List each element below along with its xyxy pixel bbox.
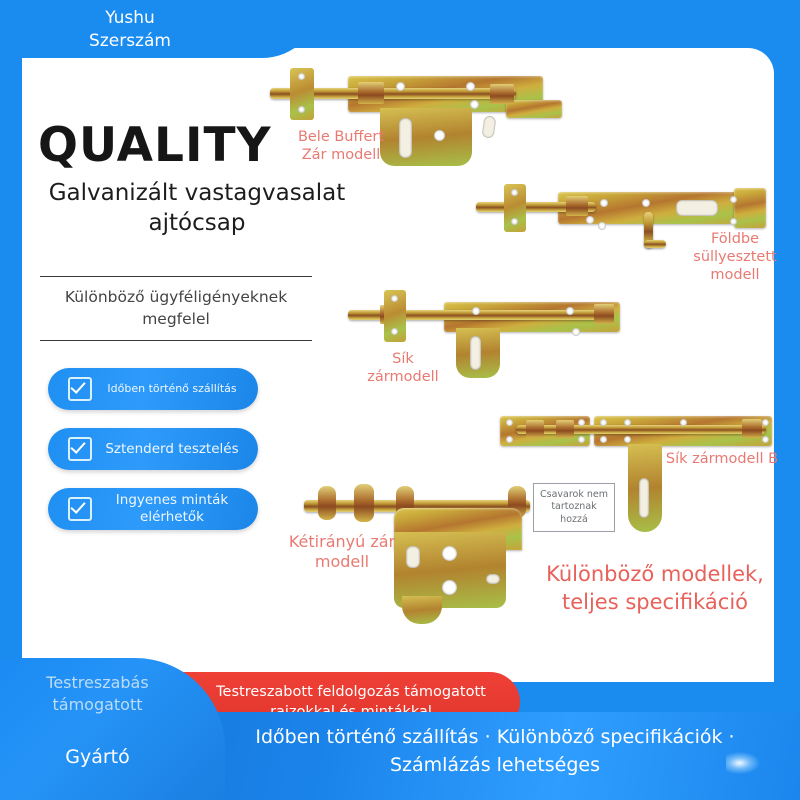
bolt-collar — [526, 420, 544, 438]
brand-name: Yushu Szerszám — [0, 7, 260, 53]
brand-tab: Yushu Szerszám — [0, 0, 320, 58]
brand-line-2: Szerszám — [0, 30, 260, 53]
padlock-slot — [482, 115, 497, 138]
product-label-sik-zarmodell: Sík zármodell — [360, 350, 446, 386]
feature-pill-samples[interactable]: Ingyenes minták elérhetők — [48, 488, 258, 530]
screw-hole — [466, 82, 475, 91]
screw-hole — [442, 580, 457, 595]
screw-hole — [506, 419, 513, 426]
screw-hole — [600, 436, 607, 443]
screw-hole — [600, 199, 608, 207]
check-box-icon — [68, 437, 92, 461]
feature-pill-label: Időben történő szállítás — [92, 382, 258, 396]
footer-panel-bottom-text: Gyártó — [0, 746, 195, 768]
bolt-collar — [594, 304, 614, 324]
screw-hole — [586, 216, 594, 224]
bolt-collar — [358, 82, 384, 104]
footer-bar-text: Időben történő szállítás · Különböző spe… — [210, 724, 780, 779]
bolt-tongue — [402, 596, 442, 624]
sparkle-highlight — [726, 752, 760, 774]
screw-hole — [391, 295, 398, 302]
screw-hole — [730, 196, 737, 203]
padlock-slot — [470, 336, 481, 370]
screw-hole — [680, 419, 687, 426]
screw-hole — [298, 73, 305, 80]
feature-pill-testing[interactable]: Sztenderd tesztelés — [48, 428, 258, 470]
screw-hole — [762, 436, 769, 443]
footer-panel-top-text: Testreszabás támogatott — [0, 672, 195, 715]
bolt-collar — [556, 420, 574, 438]
padlock-slot — [406, 546, 420, 568]
bolt-collar — [566, 196, 588, 216]
bolt-collar — [354, 484, 374, 522]
screw-hole — [624, 436, 631, 443]
screw-hole — [506, 436, 513, 443]
screw-hole — [730, 218, 737, 225]
needs-text: Különböző ügyféligényeknek megfelel — [40, 277, 312, 340]
screw-hole — [642, 199, 650, 207]
check-box-icon — [68, 497, 92, 521]
recessed-slot — [676, 200, 718, 216]
screw-hole — [511, 189, 518, 196]
feature-pill-list: Időben történő szállítás Sztenderd teszt… — [48, 368, 258, 548]
bolt-end-plate — [734, 188, 766, 228]
screw-hole — [566, 307, 574, 315]
screw-hole — [624, 419, 631, 426]
subtitle: Galvanizált vastagvasalat ajtócsap — [32, 179, 362, 239]
screw-hole — [511, 218, 518, 225]
feature-pill-label: Sztenderd tesztelés — [92, 441, 258, 458]
screw-hole — [298, 106, 305, 113]
screw-hole — [578, 419, 585, 426]
screw-hole — [442, 546, 457, 561]
screw-hole — [391, 328, 398, 335]
bolt-end-plate — [506, 100, 562, 118]
screw-hole — [572, 328, 580, 336]
bolt-collar — [742, 419, 762, 438]
screw-hole — [434, 130, 445, 141]
brand-line-1: Yushu — [0, 7, 260, 30]
product-label-ketiranyu: Kétirányú zár modell — [288, 532, 396, 572]
product-label-bele-buffert: Bele Buffert Zár modell — [286, 128, 396, 164]
footer-left-panel: Testreszabás támogatott Gyártó — [0, 658, 225, 800]
screw-hole — [598, 222, 606, 230]
screw-hole — [762, 419, 769, 426]
needs-block: Különböző ügyféligényeknek megfelel — [40, 276, 312, 341]
check-box-icon — [68, 377, 92, 401]
screw-hole — [472, 307, 480, 315]
padlock-slot — [399, 118, 412, 158]
bolt-collar — [318, 486, 336, 520]
bolt-handle-tip — [644, 240, 666, 248]
bolt-collar — [490, 84, 514, 104]
screw-hole — [578, 436, 585, 443]
padlock-slot — [639, 478, 649, 518]
product-poster: Yushu Szerszám QUALITY Galvanizált vasta… — [0, 0, 800, 800]
screw-hole — [600, 419, 607, 426]
padlock-slot — [486, 574, 500, 584]
feature-pill-delivery[interactable]: Időben történő szállítás — [48, 368, 258, 410]
note-box-screws-not-included: Csavarok nem tartoznak hozzá — [533, 483, 615, 532]
feature-pill-label: Ingyenes minták elérhetők — [92, 492, 258, 526]
claim-text: Különböző modellek, teljes specifikáció — [520, 560, 790, 617]
bolt-rod — [516, 425, 766, 434]
screw-hole — [396, 82, 405, 91]
product-label-foldbe-sullyesztett: Földbe süllyesztett modell — [680, 230, 790, 284]
product-label-sik-zarmodell-b: Sík zármodell B — [660, 450, 784, 468]
divider-bottom — [40, 340, 312, 341]
